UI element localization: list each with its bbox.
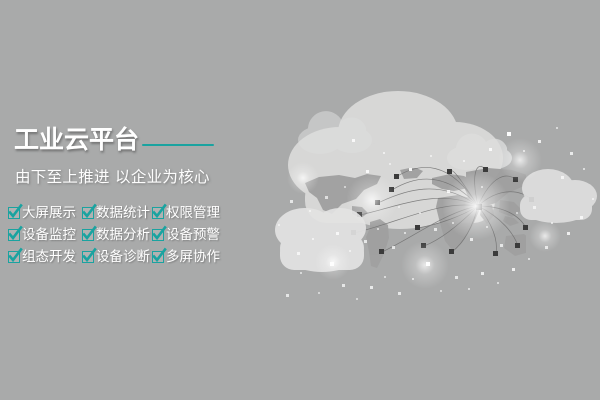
feature-label: 多屏协作: [166, 249, 220, 265]
glow-blooms: [287, 138, 561, 289]
feature-item-7: 设备诊断: [82, 249, 152, 265]
feature-label: 大屏展示: [22, 205, 76, 221]
cloud-bottom-left: [275, 208, 366, 272]
cloud-bottom-right: [520, 169, 597, 223]
page-subtitle: 由下至上推进 以企业为核心: [15, 167, 210, 187]
check-icon: [8, 207, 20, 219]
feature-item-5: 设备预警: [152, 227, 220, 243]
feature-label: 数据分析: [96, 227, 150, 243]
feature-label: 组态开发: [22, 249, 76, 265]
check-icon: [8, 251, 20, 263]
check-icon: [82, 229, 94, 241]
feature-item-6: 组态开发: [8, 249, 82, 265]
feature-label: 权限管理: [166, 205, 220, 221]
check-icon: [82, 251, 94, 263]
check-icon: [152, 207, 164, 219]
feature-item-3: 设备监控: [8, 227, 82, 243]
hero-content: 工业云平台 由下至上推进 以企业为核心 大屏展示 数据统计: [0, 0, 260, 400]
cloud-large: [288, 91, 503, 229]
check-icon: [152, 229, 164, 241]
check-icon: [82, 207, 94, 219]
feature-label: 设备诊断: [96, 249, 150, 265]
feature-item-8: 多屏协作: [152, 249, 220, 265]
title-row: 工业云平台: [14, 126, 214, 154]
feature-item-4: 数据分析: [82, 227, 152, 243]
industrial-cloud-platform-banner: 工业云平台 由下至上推进 以企业为核心 大屏展示 数据统计: [0, 0, 600, 400]
sparkle-particles: [278, 127, 594, 300]
feature-label: 设备监控: [22, 227, 76, 243]
feature-item-1: 数据统计: [82, 205, 152, 221]
world-map: [305, 167, 543, 268]
check-icon: [152, 251, 164, 263]
cloud-small-right: [447, 134, 512, 170]
cloud-small-left: [298, 111, 372, 154]
feature-item-0: 大屏展示: [8, 205, 82, 221]
feature-label: 数据统计: [96, 205, 150, 221]
title-underline-rule: [142, 144, 214, 146]
feature-list: 大屏展示 数据统计 权限管理 设备监控: [8, 202, 220, 268]
check-icon: [8, 229, 20, 241]
page-title: 工业云平台: [14, 126, 139, 154]
feature-label: 设备预警: [166, 227, 220, 243]
connection-arcs: [354, 166, 532, 254]
feature-item-2: 权限管理: [152, 205, 220, 221]
location-pins: [351, 167, 534, 256]
